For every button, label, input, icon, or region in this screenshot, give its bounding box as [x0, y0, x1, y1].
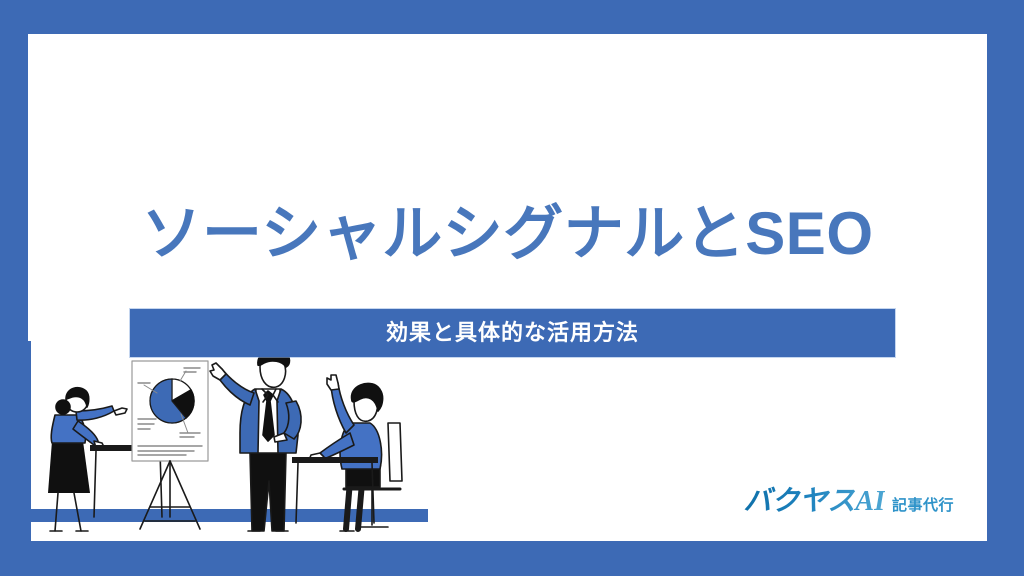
- pie-chart: [150, 379, 194, 423]
- illustration-business-team: [28, 341, 428, 541]
- brand-service-label: 記事代行: [892, 494, 954, 515]
- slide-canvas: ソーシャルシグナルとSEO 効果と具体的な活用方法 バクヤスAI 記事代行: [0, 0, 1024, 576]
- figure-seated: [309, 375, 402, 531]
- flipchart: [132, 361, 208, 529]
- page-title: ソーシャルシグナルとSEO: [28, 202, 987, 267]
- brand-logo: バクヤスAI 記事代行: [743, 479, 954, 519]
- slide-inner-panel: ソーシャルシグナルとSEO 効果と具体的な活用方法 バクヤスAI 記事代行: [28, 34, 987, 541]
- subtitle-band: 効果と具体的な活用方法: [130, 309, 895, 357]
- subtitle-text: 効果と具体的な活用方法: [386, 322, 639, 344]
- brand-name: バクヤスAI: [743, 479, 885, 519]
- figure-man-presenting: [210, 349, 301, 531]
